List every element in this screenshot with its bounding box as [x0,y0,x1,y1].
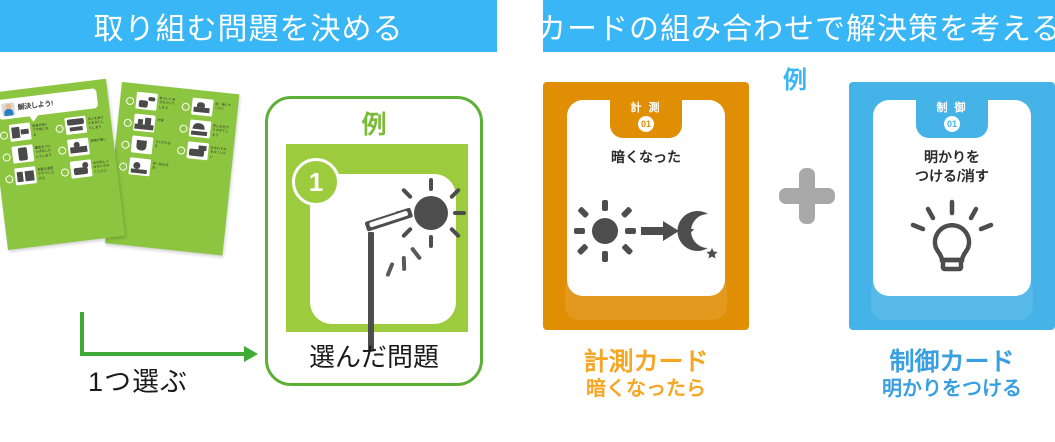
worksheet-item: おきわすれをなくしたい [176,140,228,162]
item-thumbnail [11,144,34,163]
item-number-bullet [123,118,132,127]
item-number-bullet [55,124,64,133]
item-caption: まどをあけたままにしてしまう [87,113,106,130]
item-number-bullet [2,153,11,162]
speech-bubble-text: 解決しよう! [17,100,53,111]
worksheet-papers: あついとあせをかいてしまう 夜、暗くてこわい [4,82,254,262]
control-card-text: 明かりを つける/消す [873,148,1031,186]
worksheet-item-grid-front: 夜道が暗くて不安になる まどをあけたままにしてしまう [0,113,111,186]
worksheet-item: あついとあせをかいてしまう [125,91,177,113]
control-card-text-line-2: つける/消す [873,167,1031,186]
item-thumbnail [9,122,32,141]
item-number-bullet [119,162,128,171]
sensing-card-text: 暗くなった [567,148,725,167]
worksheet-sheet-back: あついとあせをかいてしまう 夜、暗くてこわい [105,82,239,255]
header-right-title: カードの組み合わせで解決策を考える [536,4,1055,48]
sensing-card-subtitle: 暗くなったら [543,377,749,402]
sensing-card[interactable]: 計 測 01 暗くなった [543,82,749,330]
sensing-card-label: 計測カード 暗くなったら [543,348,749,402]
header-left-title: 取り組む問題を決める [94,4,404,48]
control-card-text-line-1: 明かりを [873,148,1031,167]
worksheet-item: 渋滞 [123,112,175,134]
item-number-bullet [121,140,130,149]
worksheet-sheet-front: 解決しよう! 夜道が暗くて不安になる [0,79,125,250]
control-card-subtitle: 明かりをつける [849,377,1055,402]
lightbulb-icon [873,196,1031,276]
character-avatar-icon [1,102,15,116]
sensing-card-tab-title: 計 測 [610,100,682,114]
control-card[interactable]: 制 御 01 明かりを つける/消す [849,82,1055,330]
item-thumbnail [186,141,209,160]
worksheet-item: 花に水をやりすぎてしまう [179,118,231,140]
worksheet-item: ゴミがたまる [121,134,173,156]
sensing-card-face: 計 測 01 暗くなった [567,100,725,296]
control-card-tab: 制 御 01 [916,100,988,138]
item-thumbnail [131,135,154,154]
item-caption: ゴミがたまる [154,138,172,150]
worksheet-item: 水の出しっぱなしをなくしたい [60,157,112,180]
item-thumbnail [70,159,93,178]
left-panel: あついとあせをかいてしまう 夜、暗くてこわい [0,52,497,442]
header-bar-right: カードの組み合わせで解決策を考える [543,0,1055,52]
item-caption: 夜道が暗くて不安になる [32,120,51,137]
selected-problem-caption: 選んだ問題 [268,337,480,374]
worksheet-item: 夜、暗くてこわい [181,96,233,118]
item-caption: おきわすれをなくしたい [209,144,227,161]
item-number-bullet [177,146,186,155]
control-card-title: 制御カード [849,348,1055,377]
problem-number-badge: 1 [292,158,340,206]
item-thumbnail [135,92,158,111]
header-bar-left: 取り組む問題を決める [0,0,497,52]
item-caption: 渋滞 [157,116,175,124]
item-number-bullet [0,131,8,140]
item-number-bullet [58,146,67,155]
item-number-bullet [181,102,190,111]
example-label-right: 例 [765,60,825,95]
sensing-card-title: 計測カード [543,348,749,377]
selected-problem-illustration-frame: 1 [286,144,468,332]
item-number-bullet [61,168,70,177]
plus-icon [779,168,835,224]
item-caption: 部屋の温度がすぐに上がる [37,164,56,181]
item-caption: 水の出しっぱなしをなくしたい [93,157,112,174]
item-thumbnail [64,116,87,135]
sensing-card-tab-number: 01 [638,116,654,132]
item-number-bullet [179,124,188,133]
item-thumbnail [191,97,214,116]
worksheet-item: 夜道が暗くて不安になる [0,120,51,143]
control-card-face: 制 御 01 明かりを つける/消す [873,100,1031,296]
sun-icon [414,196,448,230]
worksheet-item: 学一校の先生 [118,156,170,178]
item-thumbnail [128,157,151,176]
item-number-bullet [126,97,135,106]
item-thumbnail [14,166,37,185]
item-thumbnail [189,119,212,138]
pick-one-caption: 1つ選ぶ [88,360,188,399]
item-thumbnail [67,137,90,156]
item-caption: 荷物が重い [90,135,108,143]
example-label-left: 例 [268,105,480,141]
control-card-label: 制御カード 明かりをつける [849,348,1055,402]
worksheet-item: 部屋の温度がすぐに上がる [4,164,56,187]
item-caption: 花に水をやりすぎてしまう [212,122,230,139]
item-caption: あついとあせをかいてしまう [158,94,176,111]
lamp-head-icon [364,207,413,231]
sun-to-moon-icon [567,196,725,276]
sensing-card-tab: 計 測 01 [610,100,682,138]
item-caption: 電気をつけっぱなしにしてしまう [34,142,53,159]
worksheet-item: 電気をつけっぱなしにしてしまう [2,142,54,165]
worksheet-item: まどをあけたままにしてしまう [54,113,106,136]
selected-problem-card[interactable]: 例 [265,96,483,386]
worksheet-item: 荷物が重い [57,135,109,158]
control-card-tab-number: 01 [944,116,960,132]
worksheet-item-grid-back: あついとあせをかいてしまう 夜、暗くてこわい [118,91,232,185]
item-number-bullet [5,175,14,184]
item-thumbnail [133,114,156,133]
item-caption: 夜、暗くてこわい [215,100,233,112]
item-caption: 学一校の先生 [152,160,170,172]
control-card-tab-title: 制 御 [916,100,988,114]
lamp-pole-icon [368,232,374,350]
worksheet-diagram: 取り組む問題を決める カードの組み合わせで解決策を考える あついとあせをかいてし… [0,0,1055,442]
right-panel: 例 計 測 01 暗くなった [543,52,1055,442]
